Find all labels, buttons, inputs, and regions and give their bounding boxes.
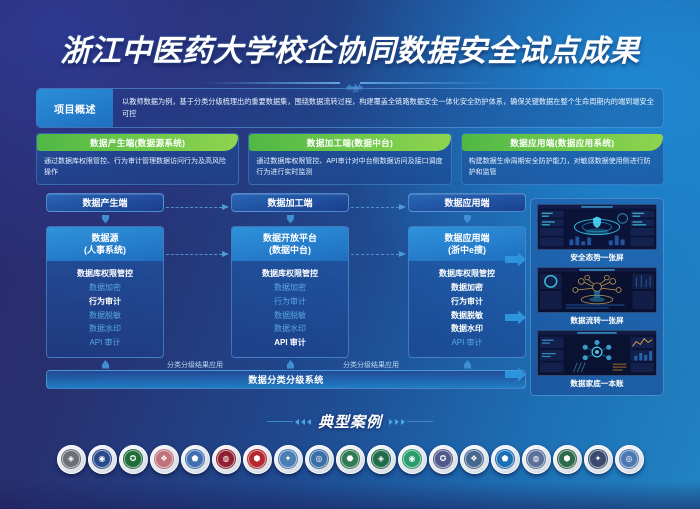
list-item[interactable]: 数据脱敏 <box>236 309 344 323</box>
flow-stack-processing: 数据开放平台 (数据中台) 数据库权限管控 数据加密 行为审计 数据脱敏 数据水… <box>231 226 349 358</box>
dashboard-caption: 数据家底一本账 <box>537 376 657 391</box>
partner-logo[interactable]: ❖ <box>150 445 179 474</box>
dashboard-caption: 安全态势一张屏 <box>537 250 657 265</box>
university-crest-icon: ◉ <box>99 455 106 463</box>
connector-top-2 <box>351 202 407 212</box>
deco-line <box>267 421 293 422</box>
flow-top-chip[interactable]: 数据应用端 <box>408 193 526 212</box>
flow-column-processing: 数据加工端 数据开放平台 (数据中台) 数据库权限管控 数据加密 行为审计 数据… <box>231 193 349 371</box>
arrow-right-large-icon <box>505 252 527 267</box>
dashboard-screen-item[interactable]: 数据家底一本账 <box>537 330 657 391</box>
partner-logo[interactable]: ◍ <box>522 445 551 474</box>
heading-deco-left <box>267 419 311 425</box>
arrow-up-icon <box>231 358 349 371</box>
stage-card-body: 通过数据库权限管控、行为审计管理数据访问行为及高风险操作 <box>37 151 238 179</box>
list-item[interactable]: 数据库权限管控 <box>51 267 159 281</box>
dashboard-thumbnail-inventory[interactable] <box>537 330 657 376</box>
partner-logo-emblem: ❖ <box>154 449 174 469</box>
partner-logo-emblem: ◍ <box>216 449 236 469</box>
flow-stack-application: 数据应用端 (浙中e搜) 数据库权限管控 数据加密 行为审计 数据脱敏 数据水印… <box>408 226 526 358</box>
partner-logo[interactable]: ✦ <box>584 445 613 474</box>
flow-stack-subtitle: (人事系统) <box>51 244 159 256</box>
university-crest-icon: ❖ <box>160 455 167 463</box>
university-crest-icon: ✦ <box>595 455 602 463</box>
list-item[interactable]: 数据脱敏 <box>51 309 159 323</box>
university-crest-icon: ✦ <box>285 455 292 463</box>
stage-card-title: 数据产生端(数据源系统) <box>37 134 238 151</box>
partner-logo[interactable]: ✪ <box>429 445 458 474</box>
university-crest-icon: ⬟ <box>502 455 509 463</box>
partner-logo-emblem: ✪ <box>123 449 143 469</box>
classification-label-2: 分类分级结果应用 <box>343 360 399 370</box>
deco-line <box>407 421 433 422</box>
list-item[interactable]: 行为审计 <box>413 295 521 309</box>
university-crest-icon: ◎ <box>316 455 323 463</box>
flow-stack-title: 数据开放平台 <box>236 232 344 244</box>
partner-logo-emblem: ⬣ <box>340 449 360 469</box>
partner-logo[interactable]: ⬟ <box>491 445 520 474</box>
partner-logo[interactable]: ◍ <box>212 445 241 474</box>
arrow-up-icon <box>46 358 164 371</box>
connector-dash <box>166 207 222 208</box>
deco-line-right <box>360 82 500 84</box>
arrow-right-icon <box>222 203 230 211</box>
partner-logo[interactable]: ✪ <box>119 445 148 474</box>
partner-logo-emblem: ⬟ <box>495 449 515 469</box>
partner-logo[interactable]: ❖ <box>460 445 489 474</box>
poster-root: 浙江中医药大学校企协同数据安全试点成果 项目概述 以教师数据为例，基于分类分级梳… <box>0 0 700 509</box>
flow-top-chip[interactable]: 数据产生端 <box>46 193 164 212</box>
stage-card-producer: 数据产生端(数据源系统) 通过数据库权限管控、行为审计管理数据访问行为及高风险操… <box>36 133 239 185</box>
university-crest-icon: ⬢ <box>254 455 261 463</box>
partner-logo[interactable]: ⬢ <box>553 445 582 474</box>
list-item[interactable]: 行为审计 <box>236 295 344 309</box>
university-crest-icon: ◎ <box>626 455 633 463</box>
list-item[interactable]: 数据库权限管控 <box>413 267 521 281</box>
stage-card-body: 构建数据生命周期安全防护能力，对敏感数据使用侧进行防护和监管 <box>462 151 663 179</box>
arrow-right-icon <box>399 250 407 258</box>
list-item[interactable]: 数据水印 <box>236 322 344 336</box>
partner-logo-emblem: ⬟ <box>185 449 205 469</box>
partner-logo[interactable]: ◎ <box>615 445 644 474</box>
flow-stack-title: 数据源 <box>51 232 159 244</box>
dashboard-caption: 数据流转一张屏 <box>537 313 657 328</box>
university-crest-icon: ◈ <box>68 455 74 463</box>
triangle-left-icon <box>295 419 299 425</box>
classification-system-bar[interactable]: 数据分类分级系统 <box>46 370 526 389</box>
title-block: 浙江中医药大学校企协同数据安全试点成果 <box>0 26 700 89</box>
partner-logo-emblem: ◎ <box>309 449 329 469</box>
partner-logo-emblem: ◍ <box>526 449 546 469</box>
flow-column-application: 数据应用端 数据应用端 (浙中e搜) 数据库权限管控 数据加密 行为审计 数据脱… <box>408 193 526 371</box>
connector-dash <box>351 207 399 208</box>
stage-card-application: 数据应用端(数据应用系统) 构建数据生命周期安全防护能力，对敏感数据使用侧进行防… <box>461 133 664 185</box>
university-crest-icon: ✪ <box>440 455 447 463</box>
university-crest-icon: ⬟ <box>192 455 199 463</box>
partner-logo-emblem: ⬢ <box>247 449 267 469</box>
heading-deco-right <box>389 419 433 425</box>
footer-fade <box>0 481 700 509</box>
partner-logo[interactable]: ◉ <box>398 445 427 474</box>
connector-mid-1 <box>166 249 230 259</box>
partner-logo-emblem: ◈ <box>61 449 81 469</box>
list-item[interactable]: 数据加密 <box>51 281 159 295</box>
flow-top-chip[interactable]: 数据加工端 <box>231 193 349 212</box>
project-overview-panel: 项目概述 以教师数据为例，基于分类分级梳理出的重要数据集，围绕数据流转过程，构建… <box>36 88 664 128</box>
partner-logo-emblem: ✦ <box>278 449 298 469</box>
arrow-right-large-icon <box>505 310 527 325</box>
stage-cards: 数据产生端(数据源系统) 通过数据库权限管控、行为审计管理数据访问行为及高风险操… <box>36 133 664 185</box>
arrow-down-icon <box>46 212 164 226</box>
partner-logo-emblem: ◈ <box>371 449 391 469</box>
partner-logo-emblem: ⬢ <box>557 449 577 469</box>
university-crest-icon: ⬢ <box>564 455 571 463</box>
partner-logo[interactable]: ⬢ <box>243 445 272 474</box>
university-crest-icon: ⬣ <box>347 455 354 463</box>
flow-stack-list: 数据库权限管控 数据加密 行为审计 数据脱敏 数据水印 API 审计 <box>232 261 348 357</box>
arrow-down-icon <box>231 212 349 226</box>
triangle-left-icon <box>301 419 305 425</box>
list-item[interactable]: API 审计 <box>51 336 159 350</box>
flow-stack-producer: 数据源 (人事系统) 数据库权限管控 数据加密 行为审计 数据脱敏 数据水印 A… <box>46 226 164 358</box>
university-crest-icon: ◉ <box>409 455 416 463</box>
flow-column-producer: 数据产生端 数据源 (人事系统) 数据库权限管控 数据加密 行为审计 数据脱敏 … <box>46 193 164 371</box>
classification-label-1: 分类分级结果应用 <box>167 360 223 370</box>
partner-logo-emblem: ❖ <box>464 449 484 469</box>
university-crest-icon: ◍ <box>533 455 540 463</box>
triangle-right-icon <box>395 419 399 425</box>
university-crest-icon: ✪ <box>130 455 137 463</box>
partner-logo-emblem: ◎ <box>619 449 639 469</box>
partner-logo[interactable]: ⬟ <box>181 445 210 474</box>
typical-cases-heading: 典型案例 <box>0 411 700 432</box>
triangle-right-icon <box>389 419 393 425</box>
triangle-left-icon <box>307 419 311 425</box>
flow-stack-title: 数据应用端 <box>413 232 521 244</box>
flow-stack-head: 数据开放平台 (数据中台) <box>232 227 348 261</box>
dashboard-screens-panel: 安全态势一张屏 <box>530 198 664 396</box>
deco-line-left <box>200 82 340 84</box>
list-item[interactable]: API 审计 <box>236 336 344 350</box>
partner-logo[interactable]: ◈ <box>367 445 396 474</box>
dashboard-screen-item[interactable]: 安全态势一张屏 <box>537 204 657 265</box>
arrow-down-icon <box>408 212 526 226</box>
list-item[interactable]: 数据库权限管控 <box>236 267 344 281</box>
partner-logo-row: ◈◉✪❖⬟◍⬢✦◎⬣◈◉✪❖⬟◍⬢✦◎ <box>0 438 700 480</box>
stage-card-body: 通过数据库权限管控、API审计对中台侧数据访问及接口调度行为进行实时监测 <box>249 151 450 179</box>
stage-card-title: 数据加工端(数据中台) <box>249 134 450 151</box>
partner-logo-emblem: ✦ <box>588 449 608 469</box>
connector-dash <box>166 254 222 255</box>
arrow-right-icon <box>222 250 230 258</box>
partner-logo[interactable]: ◈ <box>57 445 86 474</box>
partner-logo[interactable]: ⬣ <box>336 445 365 474</box>
partner-logo-emblem: ◉ <box>402 449 422 469</box>
partner-logo[interactable]: ◉ <box>88 445 117 474</box>
flow-stack-list: 数据库权限管控 数据加密 行为审计 数据脱敏 数据水印 API 审计 <box>47 261 163 357</box>
triangle-right-icon <box>401 419 405 425</box>
university-crest-icon: ◍ <box>223 455 230 463</box>
overview-badge: 项目概述 <box>37 89 113 127</box>
partner-logo-emblem: ✪ <box>433 449 453 469</box>
university-crest-icon: ◈ <box>378 455 384 463</box>
connector-top-1 <box>166 202 230 212</box>
stage-card-title: 数据应用端(数据应用系统) <box>462 134 663 151</box>
flow-stack-subtitle: (数据中台) <box>236 244 344 256</box>
arrow-right-large-icon <box>505 367 527 382</box>
overview-text: 以教师数据为例，基于分类分级梳理出的重要数据集，围绕数据流转过程，构建覆盖全链路… <box>113 96 663 120</box>
connector-mid-2 <box>351 249 407 259</box>
partner-logo[interactable]: ◎ <box>305 445 334 474</box>
stage-card-processing: 数据加工端(数据中台) 通过数据库权限管控、API审计对中台侧数据访问及接口调度… <box>248 133 451 185</box>
university-crest-icon: ❖ <box>470 455 477 463</box>
partner-logo[interactable]: ✦ <box>274 445 303 474</box>
dashboard-thumbnail-dataflow[interactable] <box>537 267 657 313</box>
partner-logo-emblem: ◉ <box>92 449 112 469</box>
connector-dash <box>351 254 399 255</box>
dashboard-screen-item[interactable]: 数据流转一张屏 <box>537 267 657 328</box>
list-item[interactable]: 行为审计 <box>51 295 159 309</box>
flow-stack-head: 数据源 (人事系统) <box>47 227 163 261</box>
page-title: 浙江中医药大学校企协同数据安全试点成果 <box>0 26 700 70</box>
list-item[interactable]: 数据加密 <box>413 281 521 295</box>
arrow-right-icon <box>399 203 407 211</box>
typical-cases-label: 典型案例 <box>318 411 382 432</box>
dashboard-thumbnail-security[interactable] <box>537 204 657 250</box>
list-item[interactable]: 数据水印 <box>51 322 159 336</box>
list-item[interactable]: 数据加密 <box>236 281 344 295</box>
list-item[interactable]: API 审计 <box>413 336 521 350</box>
